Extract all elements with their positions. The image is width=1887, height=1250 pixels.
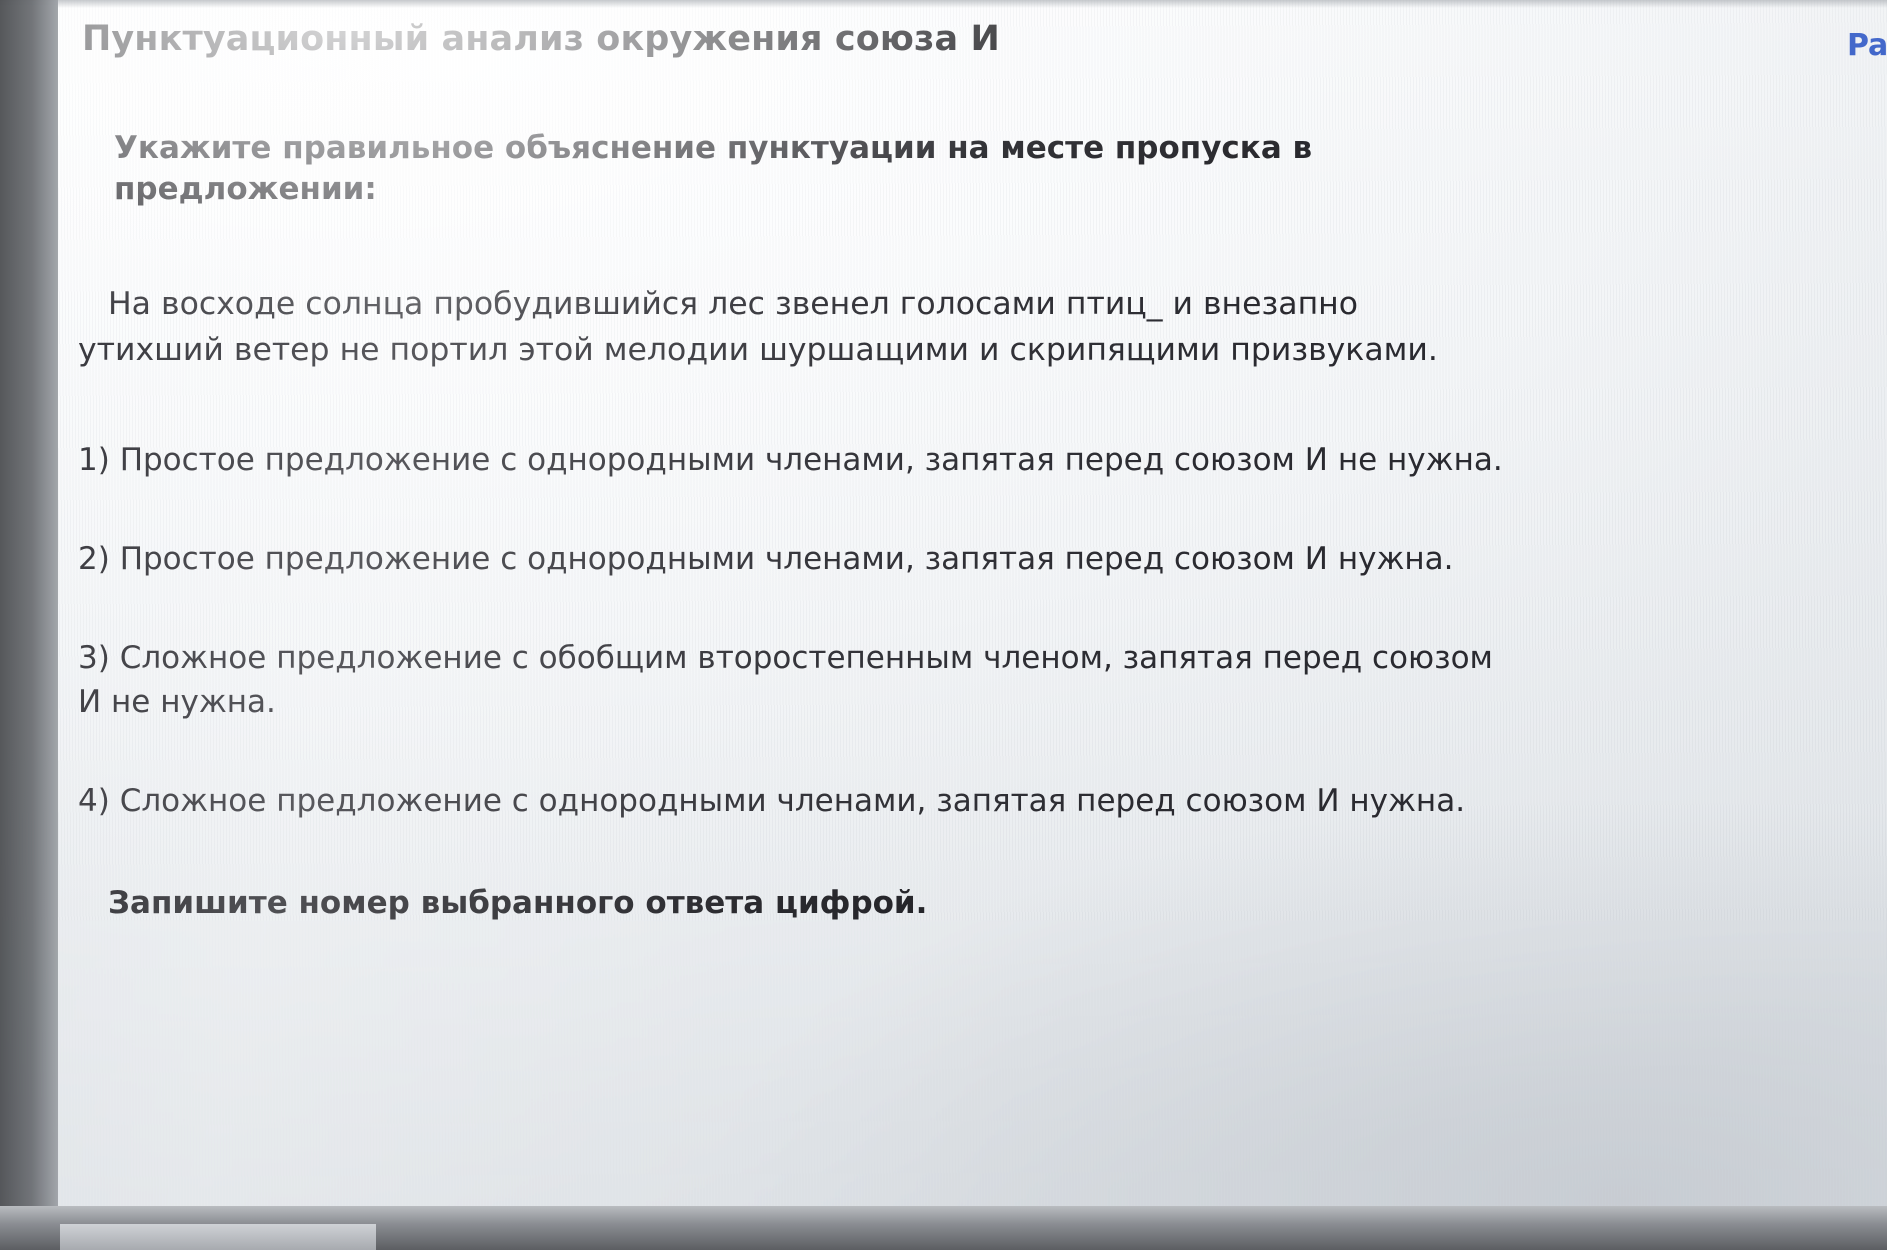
answer-option-number: 2) [78,541,110,577]
answer-option-number: 1) [78,442,110,478]
bezel-left [0,0,58,1250]
answer-option[interactable]: 2) Простое предложение с однородными чле… [78,537,1516,581]
task-body: Укажите правильное объяснение пунктуации… [78,128,1516,925]
page-content: Пунктуационный анализ окружения союза И … [0,0,1887,1250]
answer-option-number: 4) [78,783,110,819]
bezel-bottom-tab [60,1224,376,1250]
answer-option-text: Сложное предложение с однородными членам… [120,783,1465,819]
bezel-top [0,0,1887,8]
answer-option[interactable]: 4) Сложное предложение с однородными чле… [78,779,1516,823]
answer-option[interactable]: 1) Простое предложение с однородными чле… [78,438,1516,482]
task-sentence: На восходе солнца пробудившийся лес звен… [78,282,1508,374]
bezel-bottom [0,1206,1887,1250]
task-prompt: Укажите правильное объяснение пунктуации… [114,128,1516,210]
corner-link[interactable]: Ра [1847,28,1887,63]
answer-option[interactable]: 3) Сложное предложение с обобщим второст… [78,636,1516,724]
answer-option-text: Простое предложение с однородными членам… [120,442,1503,478]
closing-instruction: Запишите номер выбранного ответа цифрой. [108,883,1516,925]
answer-option-text: Сложное предложение с обобщим второстепе… [78,640,1493,720]
answer-option-text: Простое предложение с однородными членам… [120,541,1454,577]
answer-option-number: 3) [78,640,110,676]
page-title: Пунктуационный анализ окружения союза И [82,18,1000,60]
photo-of-screen: Пунктуационный анализ окружения союза И … [0,0,1887,1250]
title-row: Пунктуационный анализ окружения союза И [82,18,1847,60]
answer-options-list: 1) Простое предложение с однородными чле… [78,438,1516,823]
